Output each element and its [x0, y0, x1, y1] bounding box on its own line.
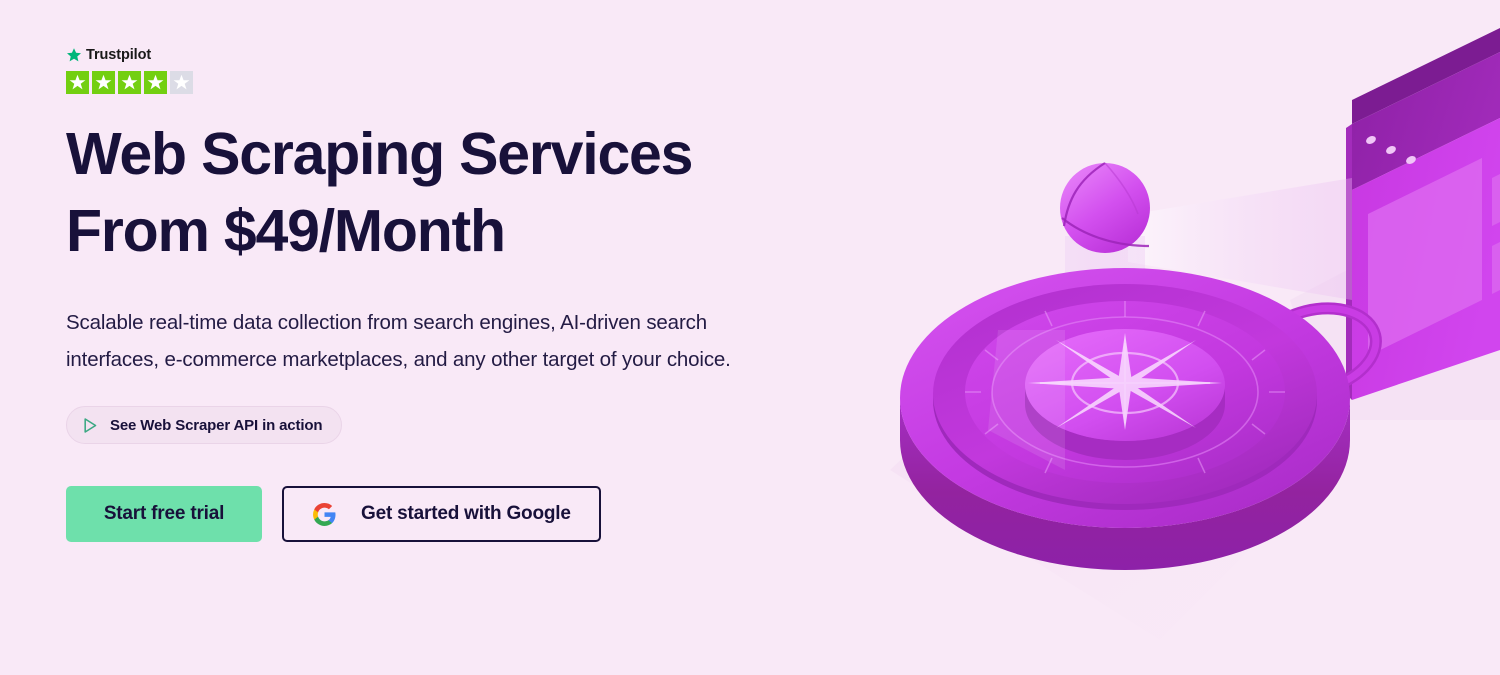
- google-logo-icon: [312, 502, 337, 527]
- get-started-with-google-label: Get started with Google: [361, 503, 571, 525]
- trustpilot-brand: Trustpilot: [66, 46, 866, 64]
- trustpilot-rating[interactable]: Trustpilot: [66, 46, 866, 94]
- trustpilot-star-2: [92, 71, 115, 94]
- see-api-in-action-label: See Web Scraper API in action: [110, 417, 322, 434]
- compass-graphic: [900, 268, 1385, 570]
- trustpilot-brand-name: Trustpilot: [86, 48, 151, 63]
- trustpilot-star-4: [144, 71, 167, 94]
- get-started-with-google-button[interactable]: Get started with Google: [282, 486, 601, 542]
- trustpilot-star-5-empty: [170, 71, 193, 94]
- hero-illustration: [860, 0, 1500, 675]
- page-subtitle: Scalable real-time data collection from …: [66, 304, 796, 378]
- page-title-line-2: From $49/Month: [66, 193, 826, 270]
- start-free-trial-button[interactable]: Start free trial: [66, 486, 262, 542]
- page-title-line-1: Web Scraping Services: [66, 116, 826, 193]
- browser-window-graphic: [1346, 28, 1500, 400]
- hero-section: Trustpilot W: [0, 0, 1500, 675]
- trustpilot-logo-star-icon: [66, 47, 82, 63]
- hero-content: Trustpilot W: [66, 46, 866, 542]
- play-icon: [80, 416, 99, 435]
- trustpilot-star-3: [118, 71, 141, 94]
- page-title: Web Scraping Services From $49/Month: [66, 116, 826, 270]
- sphere-graphic: [1060, 163, 1150, 253]
- see-api-in-action-button[interactable]: See Web Scraper API in action: [66, 406, 342, 444]
- trustpilot-star-1: [66, 71, 89, 94]
- cta-button-row: Start free trial Get started with Google: [66, 486, 866, 542]
- trustpilot-stars: [66, 71, 866, 94]
